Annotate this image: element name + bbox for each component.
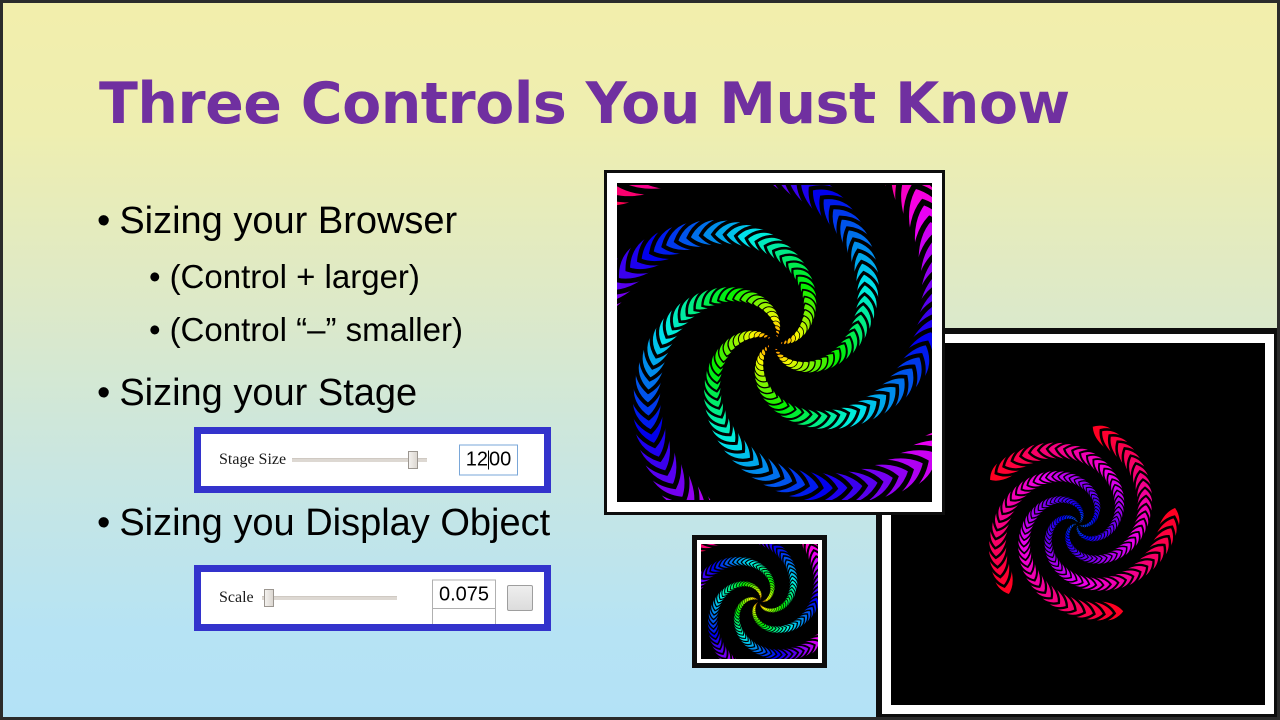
bullet-text: (Control + larger) xyxy=(170,258,420,295)
scale-label: Scale xyxy=(219,589,254,607)
stage-size-input[interactable]: 1200 xyxy=(459,445,518,476)
five-arm-rainbow-spiral-thumbnail-art xyxy=(701,544,818,659)
bullet-marker: • xyxy=(149,312,161,348)
stage-size-slider[interactable] xyxy=(292,451,427,469)
slide-canvas: Three Controls You Must Know •Sizing you… xyxy=(0,0,1280,720)
bullet-marker: • xyxy=(149,259,161,295)
five-arm-rainbow-spiral-art xyxy=(617,183,932,502)
bullet-item-sizing-browser: •Sizing your Browser xyxy=(97,201,457,243)
bullet-item-sizing-stage: •Sizing your Stage xyxy=(97,373,417,415)
bullet-text: Sizing your Stage xyxy=(119,372,417,414)
scale-panel-body: Scale 0.075 xyxy=(201,572,544,624)
large-spiral-image xyxy=(604,170,945,515)
scale-apply-button[interactable] xyxy=(507,585,533,611)
bullet-item-control-minus: •(Control “–” smaller) xyxy=(149,312,463,348)
slider-thumb[interactable] xyxy=(264,589,274,607)
small-spiral-thumbnail xyxy=(692,535,827,668)
stage-size-value-before-caret: 12 xyxy=(466,449,488,471)
bullet-marker: • xyxy=(97,373,110,415)
bullet-marker: • xyxy=(97,201,110,243)
bullet-text: (Control “–” smaller) xyxy=(170,311,463,348)
scaled-down-spiral-art xyxy=(891,343,1265,705)
stage-size-panel-body: Stage Size 1200 xyxy=(201,434,544,486)
stage-size-value-after-caret: 00 xyxy=(489,449,511,471)
bullet-item-control-plus: •(Control + larger) xyxy=(149,259,420,295)
slider-track[interactable] xyxy=(292,458,427,462)
bullet-marker: • xyxy=(97,503,110,545)
bullet-text: Sizing your Browser xyxy=(119,200,457,242)
bullet-item-sizing-display-object: •Sizing you Display Object xyxy=(97,503,550,545)
scale-secondary-input[interactable] xyxy=(432,608,496,624)
stage-size-label: Stage Size xyxy=(219,451,286,469)
bullet-text: Sizing you Display Object xyxy=(119,502,550,544)
slider-thumb[interactable] xyxy=(408,451,418,469)
page-title: Three Controls You Must Know xyxy=(99,75,1070,135)
scale-control-panel: Scale 0.075 xyxy=(194,565,551,631)
stage-size-control-panel: Stage Size 1200 xyxy=(194,427,551,493)
scale-slider[interactable] xyxy=(262,589,397,607)
slider-track[interactable] xyxy=(262,596,397,600)
scale-input[interactable]: 0.075 xyxy=(432,579,496,610)
